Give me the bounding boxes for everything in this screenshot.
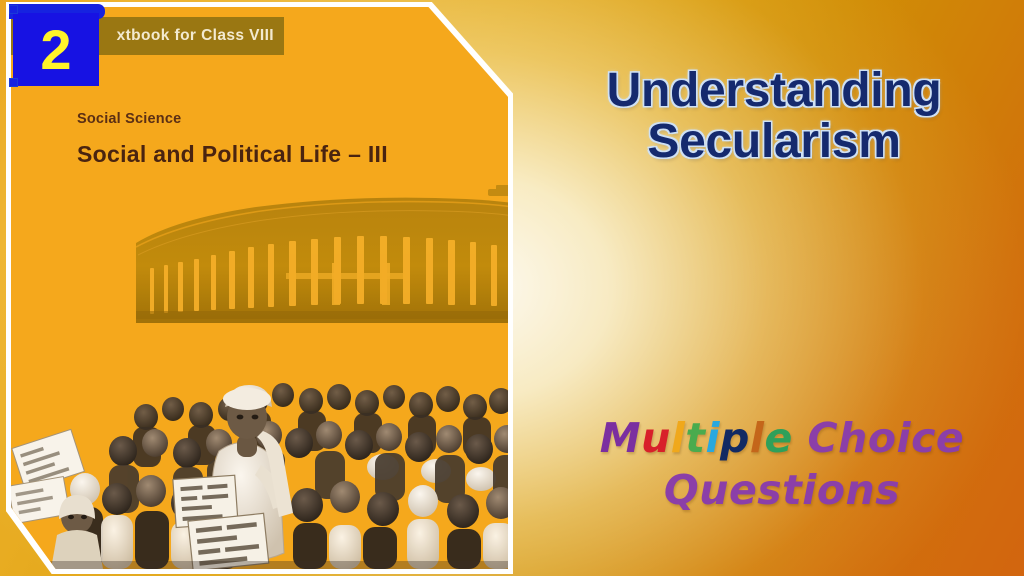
chapter-number-badge: 2 <box>13 4 99 86</box>
subtitle-char-9: C <box>808 412 839 464</box>
subtitle-line-2: Questions <box>556 464 1008 516</box>
subtitle-char-6: o <box>817 464 846 516</box>
page-title: Understanding Secularism <box>524 66 1024 168</box>
subtitle-char-5: i <box>802 464 817 516</box>
subtitle-char-13: c <box>911 412 936 464</box>
subtitle-char-5: p <box>720 412 750 464</box>
book-cover-face: xtbook for Class VIII Social Science Soc… <box>11 7 508 569</box>
page-title-line-2: Secularism <box>524 117 1024 168</box>
subtitle-char-3: s <box>757 464 782 516</box>
cover-subject-label: Social Science <box>77 111 181 127</box>
subtitle-char-4: i <box>705 412 720 464</box>
subtitle-char-4: t <box>782 464 802 516</box>
badge-box: 2 <box>13 13 99 86</box>
subtitle-char-11: o <box>868 412 897 464</box>
page-title-line-1: Understanding <box>524 66 1024 117</box>
parliament-building-illustration <box>136 185 508 330</box>
subtitle-char-7: e <box>764 412 792 464</box>
subtitle-char-2: l <box>671 412 686 464</box>
subtitle-char-2: e <box>729 464 757 516</box>
cover-class-banner-text: xtbook for Class VIII <box>117 27 274 45</box>
subtitle-char-1: u <box>641 412 671 464</box>
book-cover: xtbook for Class VIII Social Science Soc… <box>6 2 513 574</box>
subtitle-char-10: h <box>838 412 868 464</box>
badge-corner-handle-bottom-left <box>9 78 18 87</box>
slide-canvas: xtbook for Class VIII Social Science Soc… <box>0 0 1024 576</box>
subtitle-char-8: s <box>875 464 900 516</box>
subtitle-char-7: n <box>846 464 876 516</box>
subtitle-char-0: Q <box>664 464 699 516</box>
badge-corner-handle-top-left <box>9 5 18 14</box>
subtitle-char-14: e <box>936 412 964 464</box>
subtitle-char-12: i <box>897 412 912 464</box>
cover-title-label: Social and Political Life – III <box>77 141 388 168</box>
subtitle-line-1: Multiple Choice <box>556 412 1008 464</box>
subtitle-char-0: M <box>600 412 641 464</box>
badge-number-text: 2 <box>13 13 99 86</box>
subtitle-char-3: t <box>685 412 705 464</box>
crowd-protest-photograph <box>11 339 508 569</box>
subtitle-char-8 <box>793 412 808 464</box>
subtitle-char-1: u <box>699 464 729 516</box>
subtitle-char-6: l <box>750 412 765 464</box>
subtitle-multiple-choice-questions: Multiple Choice Questions <box>556 412 1008 517</box>
